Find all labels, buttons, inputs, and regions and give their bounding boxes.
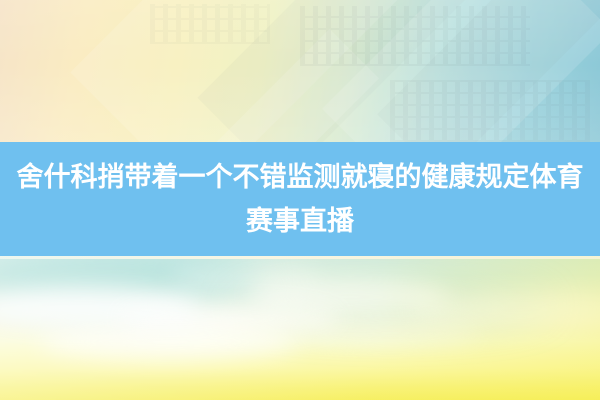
banner-image: 舍什科捎带着一个不错监测就寝的健康规定体育赛事直播 <box>0 0 600 400</box>
top-decor-panel <box>0 0 600 144</box>
top-gradient-overlay <box>0 0 600 144</box>
title-band: 舍什科捎带着一个不错监测就寝的健康规定体育赛事直播 <box>0 142 600 256</box>
sky-cloud-panel <box>0 254 600 400</box>
page-title: 舍什科捎带着一个不错监测就寝的健康规定体育赛事直播 <box>8 155 592 243</box>
bottom-gradient-overlay <box>0 254 600 400</box>
